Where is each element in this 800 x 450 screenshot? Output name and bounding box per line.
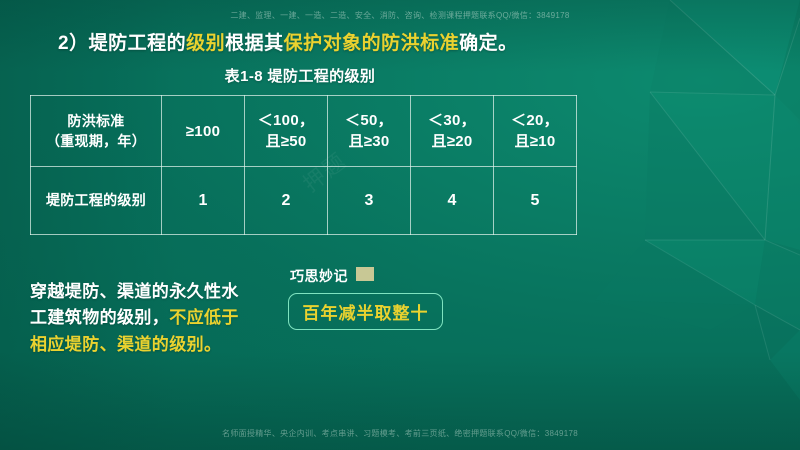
- heading-suffix: 确定。: [459, 33, 518, 54]
- table-header-label-cell: 防洪标准 （重现期，年）: [31, 96, 162, 167]
- note-line-3: 相应堤防、渠道的级别。: [30, 332, 239, 358]
- table-row-label-cell: 堤防工程的级别: [31, 167, 162, 235]
- grade-table: 防洪标准 （重现期，年） ≥100 ＜100， 且≥50 ＜50， 且≥30: [30, 95, 577, 235]
- slide-heading: 2）堤防工程的级别根据其保护对象的防洪标准确定。: [58, 28, 518, 55]
- watermark-bottom: 名师面授精华、央企内训、考点串讲、习题模考、考前三页纸、绝密押题联系QQ/微信：…: [0, 428, 800, 439]
- table-cell-grade-3: 3: [328, 167, 411, 235]
- watermark-top: 二建、监理、一建、一造、二造、安全、消防、咨询、检测课程押题联系QQ/微信：38…: [0, 10, 800, 21]
- table-cell-grade-5: 5: [494, 167, 577, 235]
- table-cell-grade-4: 4: [411, 167, 494, 235]
- background-lowpoly-decoration: [540, 0, 800, 450]
- table-cell-grade-1: 1: [162, 167, 245, 235]
- tip-label: 巧思妙记: [288, 266, 350, 286]
- table-cell-standard-1: ≥100: [162, 96, 245, 167]
- heading-mid: 根据其: [225, 33, 284, 54]
- table-cell-standard-2: ＜100， 且≥50: [245, 96, 328, 167]
- cell-line2: 且≥30: [328, 131, 410, 152]
- tip-highlight-chip: [356, 267, 374, 281]
- cell-line1: ＜20，: [494, 110, 576, 131]
- cell-line1: ＜100，: [245, 110, 327, 131]
- header-label-line1: 防洪标准: [31, 111, 161, 131]
- table-row: 防洪标准 （重现期，年） ≥100 ＜100， 且≥50 ＜50， 且≥30: [31, 96, 577, 167]
- header-label-line2: （重现期，年）: [31, 131, 161, 151]
- note-paragraph: 穿越堤防、渠道的永久性水 工建筑物的级别，不应低于 相应堤防、渠道的级别。: [30, 279, 239, 358]
- note-line-2: 工建筑物的级别，不应低于: [30, 305, 239, 331]
- table-row: 堤防工程的级别 1 2 3 4 5: [31, 167, 577, 235]
- cell-line1: ＜50，: [328, 110, 410, 131]
- heading-highlight-standard: 保护对象的防洪标准: [284, 33, 460, 54]
- table-caption: 表1-8 堤防工程的级别: [30, 65, 570, 86]
- slide-canvas: 二建、监理、一建、一造、二造、安全、消防、咨询、检测课程押题联系QQ/微信：38…: [0, 0, 800, 450]
- grade-table-wrapper: 防洪标准 （重现期，年） ≥100 ＜100， 且≥50 ＜50， 且≥30: [30, 95, 570, 235]
- cell-line1: ＜30，: [411, 110, 493, 131]
- table-cell-standard-3: ＜50， 且≥30: [328, 96, 411, 167]
- table-cell-grade-2: 2: [245, 167, 328, 235]
- cell-line2: 且≥50: [245, 131, 327, 152]
- note-line-1: 穿越堤防、渠道的永久性水: [30, 279, 239, 305]
- cell-line2: 且≥10: [494, 131, 576, 152]
- table-cell-standard-4: ＜30， 且≥20: [411, 96, 494, 167]
- cell-line1: ≥100: [162, 121, 244, 142]
- tip-box: 百年减半取整十: [288, 293, 443, 330]
- note-line-2-plain: 工建筑物的级别，: [30, 308, 169, 327]
- heading-highlight-level: 级别: [186, 33, 225, 54]
- tip-text: 百年减半取整十: [303, 299, 429, 324]
- note-line-2-highlight: 不应低于: [169, 308, 239, 327]
- heading-prefix: 2）堤防工程的: [58, 33, 186, 54]
- table-cell-standard-5: ＜20， 且≥10: [494, 96, 577, 167]
- memory-tip-block: 巧思妙记 百年减半取整十: [288, 266, 448, 340]
- cell-line2: 且≥20: [411, 131, 493, 152]
